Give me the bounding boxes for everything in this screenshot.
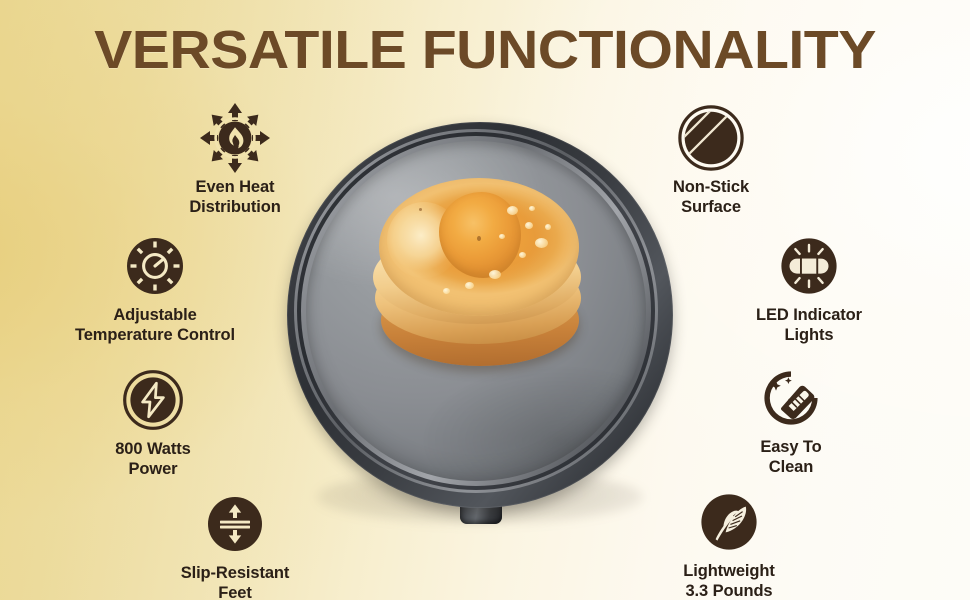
feature-adjustable-temperature-control[interactable]: Adjustable Temperature Control [40, 228, 270, 345]
feature-easy-to-clean[interactable]: Easy To Clean [676, 360, 906, 477]
temperature-dial-icon [124, 235, 186, 297]
pancake-stack [373, 178, 585, 390]
pancake-bubble [529, 206, 535, 211]
feature-lightweight-3-3-pounds[interactable]: Lightweight 3.3 Pounds [614, 484, 844, 600]
icon-container [694, 228, 924, 304]
feature-label: Even Heat Distribution [120, 178, 350, 217]
up-down-arrows-icon [206, 495, 264, 553]
feature-non-stick-surface[interactable]: Non-Stick Surface [596, 100, 826, 217]
hand-wiping-cloth-icon [758, 365, 824, 431]
page-title: VERSATILE FUNCTIONALITY [0, 21, 970, 79]
led-bulb-rays-icon [778, 235, 840, 297]
icon-container [120, 100, 350, 176]
pancake-bubble [525, 222, 533, 229]
pancake-speck [477, 236, 481, 241]
feature-even-heat-distribution[interactable]: Even Heat Distribution [120, 100, 350, 217]
feature-label: Easy To Clean [676, 438, 906, 477]
icon-container [120, 486, 350, 562]
pancake-bubble [545, 224, 551, 230]
feature-slip-resistant-feet[interactable]: Slip-Resistant Feet [120, 486, 350, 600]
icon-container [38, 362, 268, 438]
icon-container [40, 228, 270, 304]
pancake-bubble [489, 270, 501, 279]
pancake-bubble [507, 206, 518, 215]
feature-label: Non-Stick Surface [596, 178, 826, 217]
icon-container [596, 100, 826, 176]
pancake-bubble [465, 282, 474, 289]
feature-800-watts-power[interactable]: 800 Watts Power [38, 362, 268, 479]
pancake-bubble [499, 234, 505, 239]
feature-label: Slip-Resistant Feet [120, 564, 350, 600]
feature-label: 800 Watts Power [38, 440, 268, 479]
flame-radiating-arrows-icon [199, 102, 271, 174]
icon-container [676, 360, 906, 436]
pancake-bubble [519, 252, 526, 258]
feature-label: Lightweight 3.3 Pounds [614, 562, 844, 600]
feature-led-indicator-lights[interactable]: LED Indicator Lights [694, 228, 924, 345]
feature-label: Adjustable Temperature Control [40, 306, 270, 345]
diagonal-stripes-circle-icon [678, 105, 744, 171]
pancake-top [379, 178, 579, 316]
lightning-bolt-icon [123, 370, 183, 430]
feature-label: LED Indicator Lights [694, 306, 924, 345]
feather-icon [698, 491, 760, 553]
pancake-bubble [535, 238, 548, 248]
icon-container [614, 484, 844, 560]
infographic-canvas: VERSATILE FUNCTIONALITY [0, 0, 970, 600]
pancake-bubble [443, 288, 450, 294]
pancake-speck [419, 208, 422, 211]
